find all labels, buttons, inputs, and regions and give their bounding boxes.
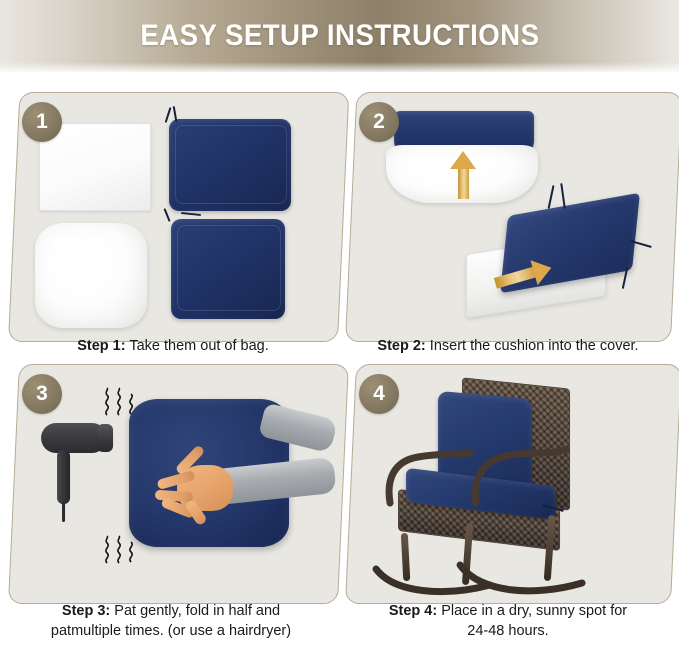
cover-tie <box>163 208 170 222</box>
instruction-sheet: EASY SETUP INSTRUCTIONS <box>0 0 679 652</box>
step-caption-line2-3: patmultiple times. (or use a hairdryer) <box>51 623 291 639</box>
arrow-shaft <box>458 167 469 199</box>
hairdryer-handle <box>57 450 70 504</box>
step-caption-label-1: Step 1: <box>77 338 125 354</box>
step-caption-line1-4: Place in a dry, sunny spot for <box>441 603 627 619</box>
cover-tie <box>181 212 201 216</box>
step-badge-3: 3 <box>22 374 62 414</box>
navy-seat-cover <box>169 119 291 211</box>
hairdryer-nozzle <box>97 424 113 452</box>
step-caption-2: Step 2: Insert the cushion into the cove… <box>341 337 675 357</box>
step-caption-3: Step 3: Pat gently, fold in half and pat… <box>4 602 338 641</box>
arrow-shaft <box>494 266 537 288</box>
step-panel-1: 1 <box>8 92 338 342</box>
step-caption-label-2: Step 2: <box>377 338 425 354</box>
header-banner: EASY SETUP INSTRUCTIONS <box>0 0 679 72</box>
step-caption-4: Step 4: Place in a dry, sunny spot for 2… <box>341 602 675 641</box>
chair-arm-left <box>384 445 474 507</box>
hairdryer-cord <box>62 502 65 522</box>
step-panel-4: 4 <box>345 364 671 604</box>
step-caption-1: Step 1: Take them out of bag. <box>8 337 338 357</box>
cover-tie <box>560 183 566 209</box>
step-panel-2: 2 <box>345 92 671 342</box>
step-caption-text-2: Insert the cushion into the cover. <box>430 338 639 354</box>
up-arrow <box>450 151 476 199</box>
rocking-runner-right <box>454 543 586 599</box>
step-caption-label-3: Step 3: <box>62 603 110 619</box>
step-badge-4: 4 <box>359 374 399 414</box>
white-square-pillow-insert <box>35 223 147 328</box>
chair-arm-right <box>468 437 572 509</box>
step-caption-line1-3: Pat gently, fold in half and <box>114 603 280 619</box>
step-caption-text-1: Take them out of bag. <box>129 338 268 354</box>
step-caption-label-4: Step 4: <box>389 603 437 619</box>
step-badge-1: 1 <box>22 102 62 142</box>
heat-wave-squiggle-bottom <box>101 535 137 565</box>
steps-grid: 1 <box>0 72 679 652</box>
hairdryer-icon <box>41 423 131 528</box>
step-panel-3: 3 <box>8 364 338 604</box>
page-title: EASY SETUP INSTRUCTIONS <box>140 19 539 53</box>
arrow-head <box>450 151 476 169</box>
step-badge-2: 2 <box>359 102 399 142</box>
step-caption-line2-4: 24-48 hours. <box>467 623 548 639</box>
arrow-head <box>530 255 554 285</box>
navy-back-cover <box>171 219 285 319</box>
cover-tie <box>165 107 172 123</box>
cover-tie <box>548 185 555 209</box>
hand-icon <box>149 451 239 525</box>
